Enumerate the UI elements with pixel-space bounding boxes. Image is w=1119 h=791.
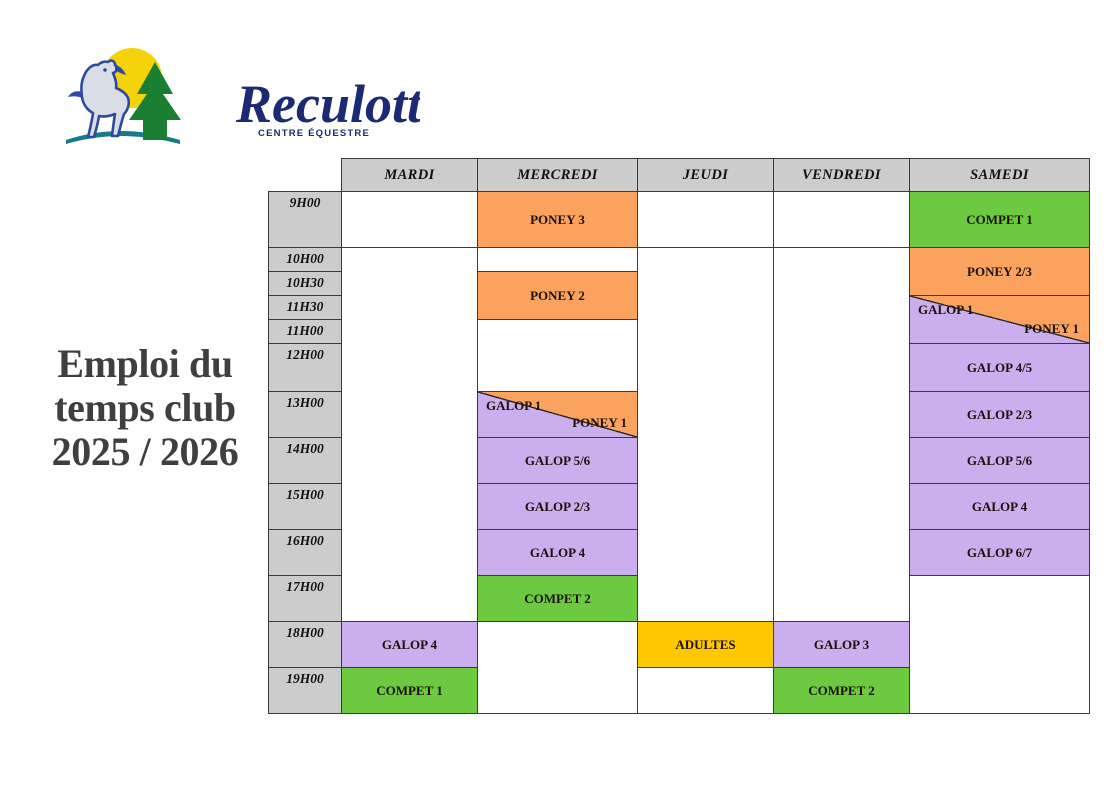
cell-mardi-9h00[interactable] bbox=[342, 192, 478, 248]
time-label-11h30: 11H30 bbox=[269, 296, 342, 320]
cell-mercredi-10h30[interactable]: PONEY 2 bbox=[478, 272, 638, 320]
time-label-13h00: 13H00 bbox=[269, 392, 342, 438]
club-logo: Reculotte CENTRE ÉQUESTRE bbox=[60, 40, 420, 150]
cell-samedi-13h00[interactable]: GALOP 2/3 bbox=[910, 392, 1090, 438]
day-header-mercredi[interactable]: MERCREDI bbox=[478, 159, 638, 192]
cell-mercredi-10h00[interactable] bbox=[478, 248, 638, 272]
page-title: Emploi du temps club 2025 / 2026 bbox=[14, 342, 276, 474]
page-title-line-1: Emploi du bbox=[14, 342, 276, 386]
cell-jeudi-9h00[interactable] bbox=[638, 192, 774, 248]
cell-vendredi-19h00[interactable]: COMPET 2 bbox=[774, 668, 910, 714]
day-header-jeudi[interactable]: JEUDI bbox=[638, 159, 774, 192]
cell-mercredi-evening-block[interactable] bbox=[478, 622, 638, 714]
cell-mercredi-16h00[interactable]: GALOP 4 bbox=[478, 530, 638, 576]
cell-samedi-11h30-split[interactable]: GALOP 1 PONEY 1 bbox=[910, 296, 1090, 344]
cell-vendredi-day-block[interactable] bbox=[774, 248, 910, 622]
logo-wordmark: Reculotte bbox=[235, 74, 420, 134]
time-label-19h00: 19H00 bbox=[269, 668, 342, 714]
cell-mercredi-11h00[interactable] bbox=[478, 320, 638, 392]
cell-mercredi-15h00[interactable]: GALOP 2/3 bbox=[478, 484, 638, 530]
page-title-line-3: 2025 / 2026 bbox=[14, 430, 276, 474]
cell-samedi-10h00[interactable]: PONEY 2/3 bbox=[910, 248, 1090, 296]
time-label-18h00: 18H00 bbox=[269, 622, 342, 668]
time-label-10h00: 10H00 bbox=[269, 248, 342, 272]
page-title-line-2: temps club bbox=[14, 386, 276, 430]
cell-mercredi-split-top-label: GALOP 1 bbox=[486, 398, 541, 414]
time-label-17h00: 17H00 bbox=[269, 576, 342, 622]
cell-mercredi-14h00[interactable]: GALOP 5/6 bbox=[478, 438, 638, 484]
cell-mardi-18h00[interactable]: GALOP 4 bbox=[342, 622, 478, 668]
time-label-9h00: 9H00 bbox=[269, 192, 342, 248]
cell-samedi-14h00[interactable]: GALOP 5/6 bbox=[910, 438, 1090, 484]
day-header-vendredi[interactable]: VENDREDI bbox=[774, 159, 910, 192]
cell-vendredi-9h00[interactable] bbox=[774, 192, 910, 248]
cell-mercredi-17h00[interactable]: COMPET 2 bbox=[478, 576, 638, 622]
cell-samedi-9h00[interactable]: COMPET 1 bbox=[910, 192, 1090, 248]
time-label-15h00: 15H00 bbox=[269, 484, 342, 530]
schedule-table: MARDI MERCREDI JEUDI VENDREDI SAMEDI 9H0… bbox=[268, 158, 1090, 714]
cell-jeudi-day-block[interactable] bbox=[638, 248, 774, 622]
cell-jeudi-19h00[interactable] bbox=[638, 668, 774, 714]
logo-subtitle: CENTRE ÉQUESTRE bbox=[258, 128, 370, 139]
logo-graphic: Reculotte CENTRE ÉQUESTRE bbox=[60, 40, 420, 150]
cell-mardi-day-block[interactable] bbox=[342, 248, 478, 622]
time-label-10h30: 10H30 bbox=[269, 272, 342, 296]
cell-mardi-19h00[interactable]: COMPET 1 bbox=[342, 668, 478, 714]
cell-samedi-evening-block[interactable] bbox=[910, 576, 1090, 714]
day-header-samedi[interactable]: SAMEDI bbox=[910, 159, 1090, 192]
cell-samedi-16h00[interactable]: GALOP 6/7 bbox=[910, 530, 1090, 576]
corner-cell bbox=[269, 159, 342, 192]
time-label-11h00: 11H00 bbox=[269, 320, 342, 344]
cell-samedi-split-bottom-label: PONEY 1 bbox=[1024, 321, 1079, 337]
cell-mercredi-9h00[interactable]: PONEY 3 bbox=[478, 192, 638, 248]
day-header-mardi[interactable]: MARDI bbox=[342, 159, 478, 192]
horse-icon bbox=[68, 61, 129, 137]
table-row: 9H00 PONEY 3 COMPET 1 bbox=[269, 192, 1090, 248]
cell-mercredi-split-bottom-label: PONEY 1 bbox=[572, 415, 627, 431]
table-row: 10H00 PONEY 2/3 bbox=[269, 248, 1090, 272]
time-label-12h00: 12H00 bbox=[269, 344, 342, 392]
time-label-14h00: 14H00 bbox=[269, 438, 342, 484]
cell-jeudi-18h00[interactable]: ADULTES bbox=[638, 622, 774, 668]
cell-vendredi-18h00[interactable]: GALOP 3 bbox=[774, 622, 910, 668]
cell-mercredi-13h00-split[interactable]: GALOP 1 PONEY 1 bbox=[478, 392, 638, 438]
time-label-16h00: 16H00 bbox=[269, 530, 342, 576]
table-header-row: MARDI MERCREDI JEUDI VENDREDI SAMEDI bbox=[269, 159, 1090, 192]
cell-samedi-12h00[interactable]: GALOP 4/5 bbox=[910, 344, 1090, 392]
cell-samedi-split-top-label: GALOP 1 bbox=[918, 302, 973, 318]
cell-samedi-15h00[interactable]: GALOP 4 bbox=[910, 484, 1090, 530]
